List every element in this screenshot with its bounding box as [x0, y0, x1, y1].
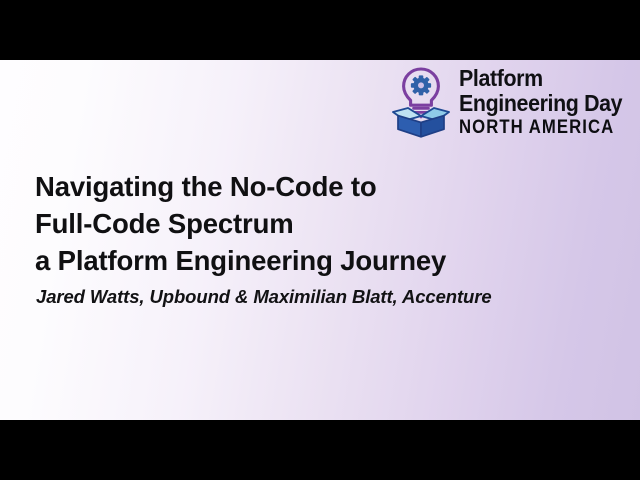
logo-text-north-america: NORTH AMERICA — [459, 118, 614, 137]
conference-logo-wordmark: Platform Engineering Day NORTH AMERICA — [459, 67, 635, 137]
letterbox-bar-bottom — [0, 420, 640, 480]
talk-title-line-3: a Platform Engineering Journey — [35, 242, 595, 279]
title-card-slide: Platform Engineering Day NORTH AMERICA N… — [0, 0, 640, 480]
letterbox-bar-top — [0, 0, 640, 60]
talk-title: Navigating the No-Code to Full-Code Spec… — [35, 168, 595, 279]
logo-text-engineering-day: Engineering Day — [459, 92, 623, 115]
speaker-byline: Jared Watts, Upbound & Maximilian Blatt,… — [36, 285, 616, 309]
lightbulb-gear-in-box-icon — [390, 65, 452, 139]
talk-title-line-1: Navigating the No-Code to — [35, 168, 595, 205]
conference-logo: Platform Engineering Day NORTH AMERICA — [390, 65, 635, 139]
logo-text-platform: Platform — [459, 67, 623, 90]
talk-title-line-2: Full-Code Spectrum — [35, 205, 595, 242]
slide-content-area: Platform Engineering Day NORTH AMERICA N… — [0, 60, 640, 420]
